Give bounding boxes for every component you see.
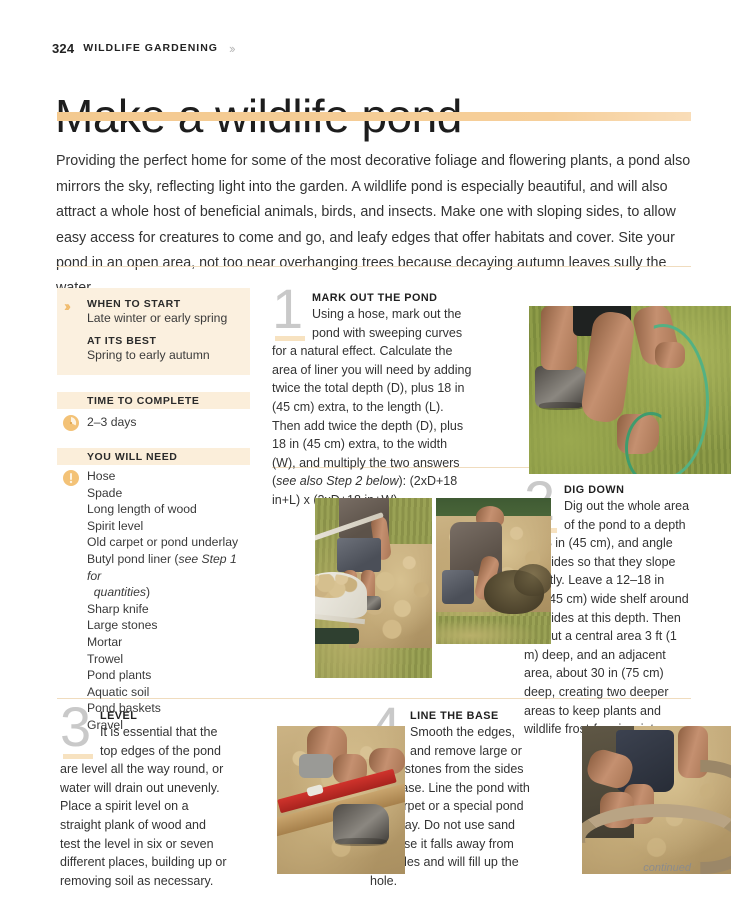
time-to-complete-label: TIME TO COMPLETE [87,395,199,407]
exclamation-circle-icon [62,469,80,487]
title-underline-rule [57,112,691,121]
time-to-complete-header: TIME TO COMPLETE [57,392,250,409]
running-head: 324 WILDLIFE GARDENING ›› [52,40,234,56]
list-item: Sharp knife [87,601,250,618]
info-sidebar: ›› WHEN TO START Late winter or early sp… [57,288,250,734]
list-item: Trowel [87,651,250,668]
list-item: Long length of wood [87,501,250,518]
step-1-number-block: 1 [272,292,312,342]
timing-panel: ›› WHEN TO START Late winter or early sp… [57,288,250,375]
list-item: Large stones [87,617,250,634]
step-1: 1 MARK OUT THE POND Using a hose, mark o… [272,292,472,510]
list-item: Mortar [87,634,250,651]
step-number-underline [275,336,305,341]
materials-list: Hose Spade Long length of wood Spirit le… [57,468,250,734]
book-page: 324 WILDLIFE GARDENING ›› Make a wildlif… [0,0,746,900]
list-item: Butyl pond liner (see Step 1 for quantit… [87,551,250,601]
clock-icon [62,414,80,432]
double-chevron-right-icon: ›› [64,299,68,314]
you-will-need-label: YOU WILL NEED [87,451,177,463]
photo-step-1 [529,306,731,474]
double-chevron-right-icon: ›› [229,42,234,55]
list-item: Pond plants [87,667,250,684]
photo-step-3 [277,726,405,874]
when-to-start-label: WHEN TO START [87,298,238,310]
step-number: 3 [60,699,91,755]
continued-note: continued [643,862,691,874]
photo-step-2-hole [436,498,551,644]
section-name: WILDLIFE GARDENING [83,42,218,54]
step-number: 1 [272,281,303,337]
list-item: Old carpet or pond underlay [87,534,250,551]
list-item: Spirit level [87,518,250,535]
step-number-underline [63,754,93,759]
when-to-start-value: Late winter or early spring [87,311,238,326]
time-to-complete-row: 2–3 days [57,413,250,431]
list-item: Aquatic soil [87,684,250,701]
photo-step-4 [582,726,731,874]
photo-step-2-digging [315,498,432,678]
intro-paragraph: Providing the perfect home for some of t… [56,149,694,301]
list-item: Spade [87,485,250,502]
at-its-best-value: Spring to early autumn [87,348,238,363]
step-3: 3 LEVEL It is essential that the top edg… [60,710,228,890]
at-its-best-label: AT ITS BEST [87,335,238,347]
list-item: Hose [87,468,250,485]
time-to-complete-value: 2–3 days [87,415,136,429]
divider-top [57,266,691,267]
step-3-number-block: 3 [60,710,100,760]
you-will-need-header: YOU WILL NEED [57,448,250,465]
page-number: 324 [52,41,74,56]
